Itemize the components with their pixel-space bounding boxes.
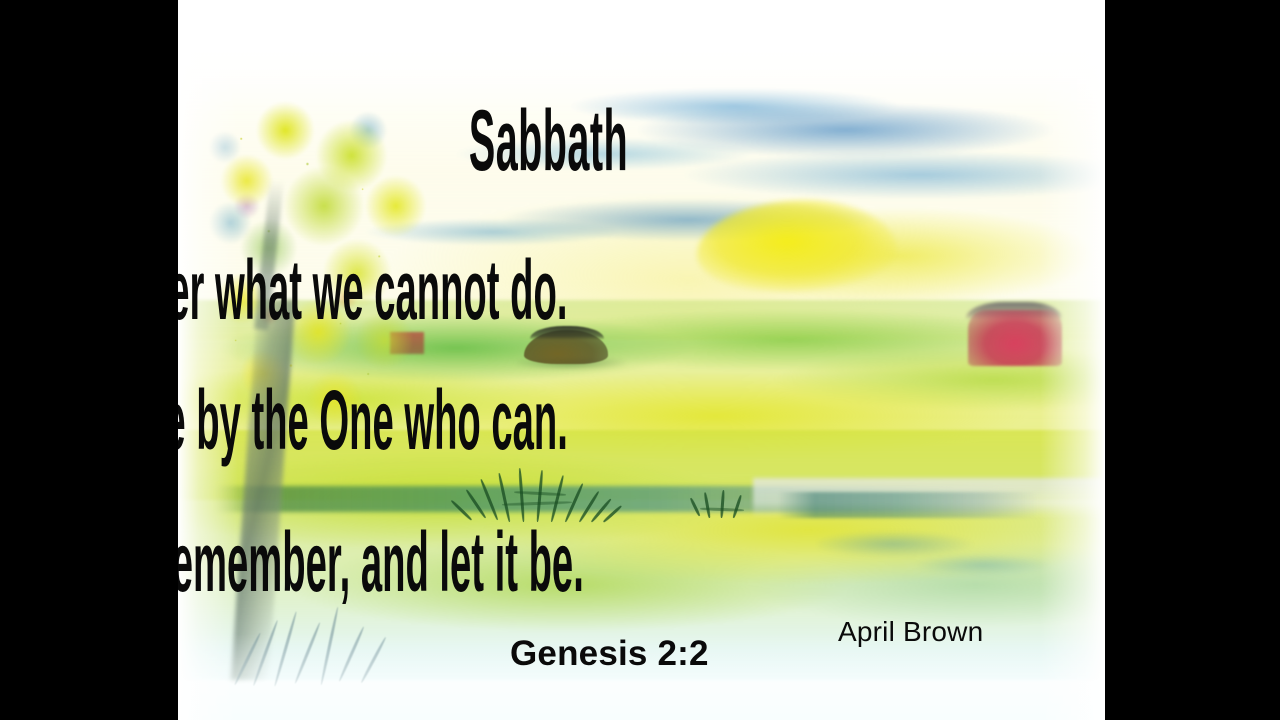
screenshot-stage: Sabbath Is for us to remember what we ca… <box>0 0 1280 720</box>
haystack-shadow <box>516 358 626 370</box>
verse-line-2: And to let it be done by the One who can… <box>178 378 567 462</box>
scripture-reference: Genesis 2:2 <box>510 636 709 671</box>
letterbox-bar-left <box>0 0 178 720</box>
sun-blob <box>697 200 897 292</box>
letterbox-bar-right <box>1105 0 1280 720</box>
slide-title: Sabbath <box>468 98 627 184</box>
author-credit: April Brown <box>838 618 983 646</box>
slide-canvas: Sabbath Is for us to remember what we ca… <box>178 0 1105 720</box>
water-wash <box>818 520 1068 600</box>
verse-line-1: Is for us to remember what we cannot do. <box>178 248 567 332</box>
scrub-brush-secondary <box>698 486 818 520</box>
verse-line-3: So stop, remember, and let it be. <box>178 520 583 604</box>
barn-roof <box>966 302 1062 320</box>
red-barn <box>968 310 1062 366</box>
